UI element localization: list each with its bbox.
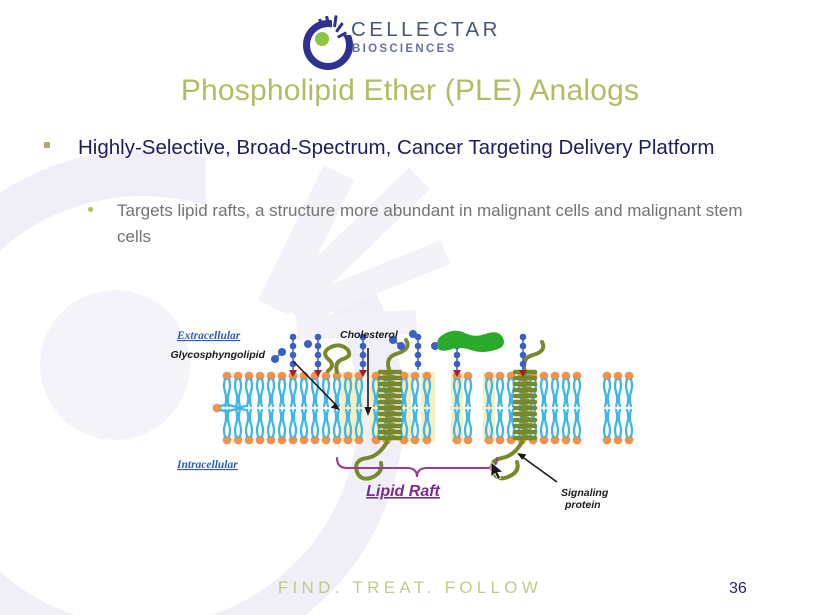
slide-canvas: CELLECTAR BIOSCIENCES Phospholipid Ether… bbox=[0, 0, 820, 615]
watermark-ray-icon bbox=[292, 240, 450, 324]
page-number: 36 bbox=[729, 580, 747, 598]
brand-wordmark: CELLECTAR bbox=[351, 18, 501, 42]
brand-subtitle: BIOSCIENCES bbox=[352, 43, 457, 55]
label-glycosphyngolipid: Glycosphyngolipid bbox=[170, 349, 265, 361]
bullet-level2-text: Targets lipid rafts, a structure more ab… bbox=[117, 198, 768, 250]
label-extracellular: Extracellular bbox=[176, 330, 241, 342]
logo-ray-icon bbox=[333, 15, 338, 27]
brand-logo: CELLECTAR BIOSCIENCES bbox=[303, 10, 508, 58]
label-signaling-protein-line2: protein bbox=[564, 499, 601, 511]
bullet-marker-icon bbox=[88, 207, 93, 212]
signaling-protein-arrow-icon bbox=[521, 456, 557, 482]
coiled-protein bbox=[325, 345, 349, 372]
bullet-marker-icon bbox=[44, 142, 50, 148]
bullet-level1: Highly-Selective, Broad-Spectrum, Cancer… bbox=[44, 132, 744, 163]
bullet-level2: Targets lipid rafts, a structure more ab… bbox=[88, 198, 768, 250]
lipid-raft-membrane-diagram: Extracellular Intracellular Cholesterol … bbox=[165, 316, 665, 516]
transmembrane-protein-2 bbox=[492, 342, 544, 478]
cellectar-c-logo-icon bbox=[303, 14, 347, 58]
label-intracellular: Intracellular bbox=[176, 459, 238, 471]
logo-ring-icon bbox=[303, 20, 353, 70]
slide-title: Phospholipid Ether (PLE) Analogs bbox=[0, 74, 820, 108]
logo-core-dot-icon bbox=[315, 32, 329, 46]
label-cholesterol: Cholesterol bbox=[340, 329, 399, 341]
peripheral-membrane-protein bbox=[437, 331, 504, 352]
label-lipid-raft: Lipid Raft bbox=[366, 483, 440, 500]
footer-tagline: FIND. TREAT. FOLLOW bbox=[0, 578, 820, 598]
transmembrane-protein-1 bbox=[356, 340, 408, 479]
label-signaling-protein-line1: Signaling bbox=[561, 487, 609, 499]
bullet-level1-text: Highly-Selective, Broad-Spectrum, Cancer… bbox=[78, 132, 744, 163]
